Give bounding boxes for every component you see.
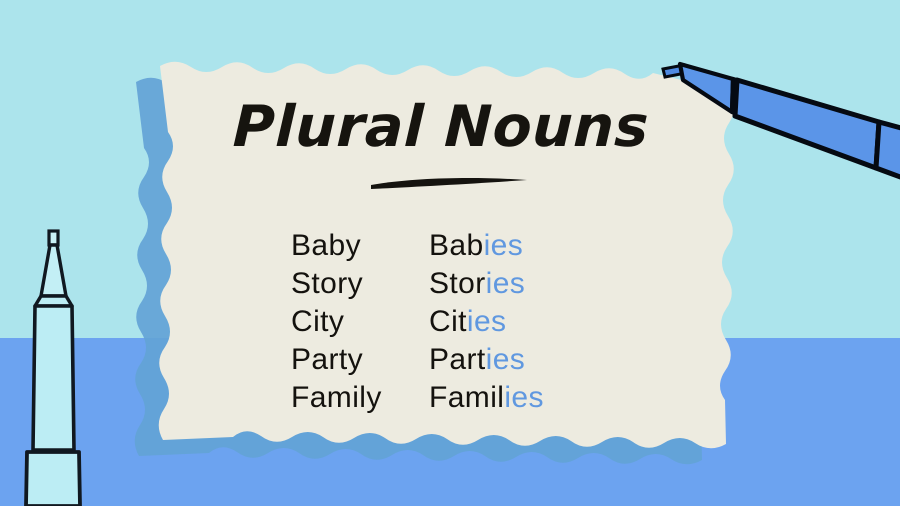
- plural-word: Cities: [429, 306, 544, 337]
- illustration-canvas: Plural Nouns Baby Babies Story Stories C…: [0, 0, 900, 506]
- singular-word: City: [291, 306, 429, 337]
- page-title: Plural Nouns: [0, 96, 892, 158]
- plural-word: Stories: [429, 268, 544, 299]
- plural-stem: Famil: [429, 381, 504, 414]
- singular-word: Family: [291, 382, 429, 413]
- plural-stem: Stor: [429, 267, 486, 300]
- plural-suffix: ies: [467, 305, 507, 338]
- plural-stem: Bab: [429, 229, 484, 262]
- singular-word: Baby: [291, 230, 429, 261]
- plural-word: Babies: [429, 230, 544, 261]
- plural-suffix: ies: [504, 381, 544, 414]
- plural-suffix: ies: [486, 343, 526, 376]
- plural-word: Parties: [429, 344, 544, 375]
- singular-word: Story: [291, 268, 429, 299]
- plural-suffix: ies: [486, 267, 526, 300]
- plural-stem: Cit: [429, 305, 467, 338]
- plural-word: Families: [429, 382, 544, 413]
- plural-suffix: ies: [484, 229, 524, 262]
- plural-stem: Part: [429, 343, 486, 376]
- singular-word: Party: [291, 344, 429, 375]
- card-text-layer: Plural Nouns Baby Babies Story Stories C…: [0, 0, 900, 506]
- word-pair-list: Baby Babies Story Stories City Cities Pa…: [291, 230, 544, 413]
